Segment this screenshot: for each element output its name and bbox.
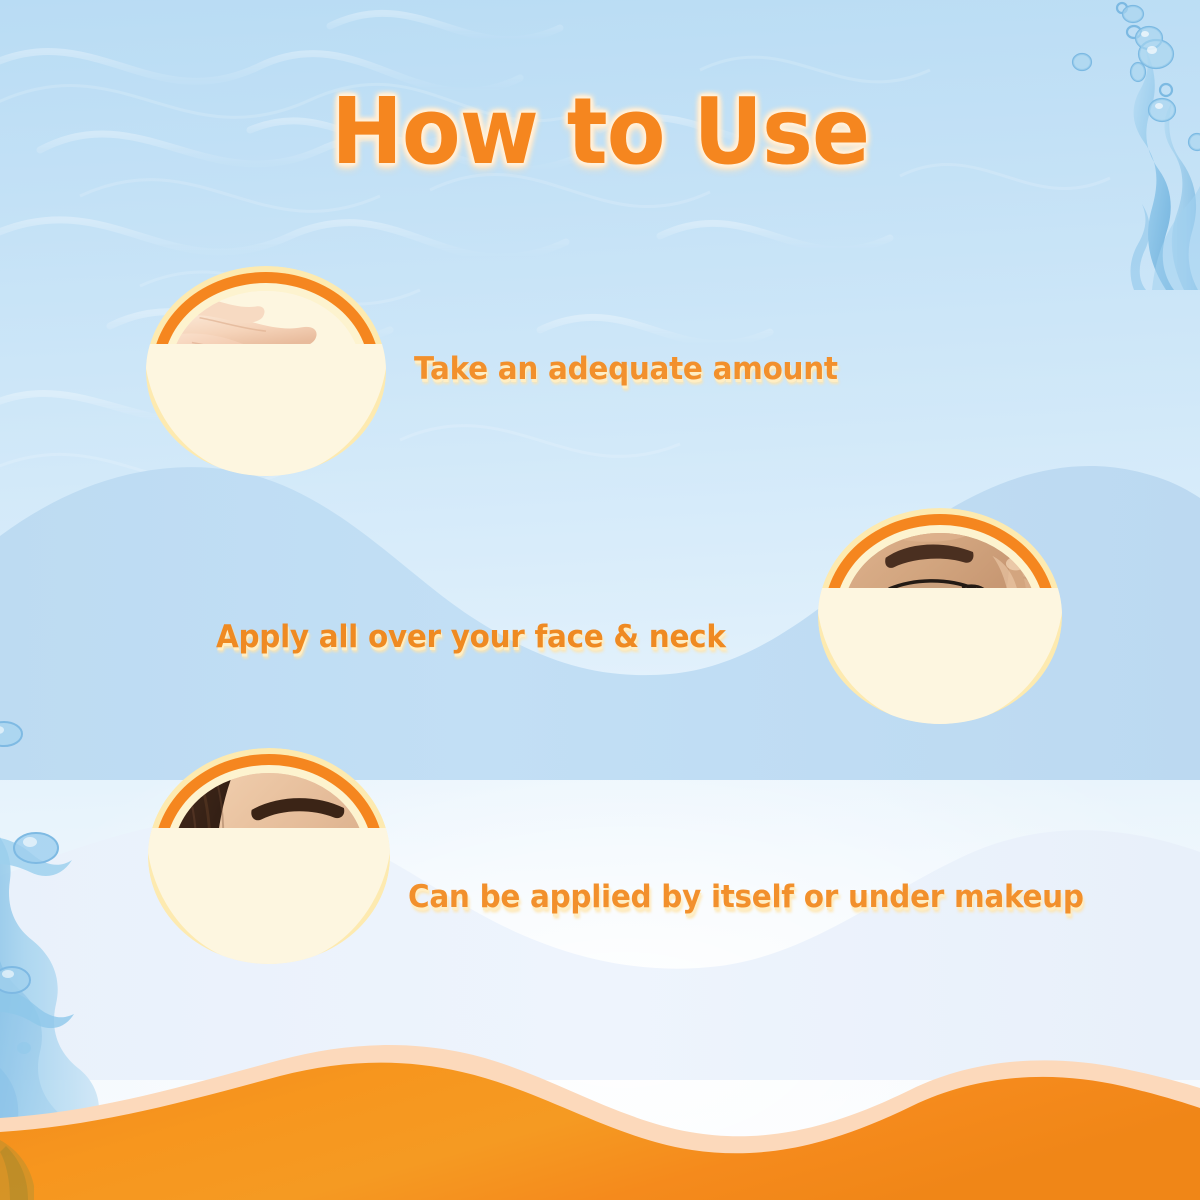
how-to-use-poster: How to Use [0, 0, 1200, 1200]
step-3 [148, 748, 390, 964]
step-3-image-frame [148, 748, 390, 964]
step-1 [146, 266, 386, 476]
woman-smiling-touching-face-photo [173, 773, 365, 939]
step-2 [818, 508, 1062, 724]
water-splash-left-icon [0, 690, 145, 1190]
woman-applying-cream-to-face-photo [843, 533, 1037, 699]
step-2-caption: Apply all over your face & neck [216, 620, 726, 654]
step-1-caption: Take an adequate amount [414, 352, 838, 386]
page-title-wrapper: How to Use [0, 86, 1200, 178]
wave-footer-orange [0, 1020, 1200, 1200]
hands-with-cream-photo [171, 291, 361, 451]
page-title: How to Use [331, 86, 869, 178]
step-1-image-frame [146, 266, 386, 476]
step-2-image-frame [818, 508, 1062, 724]
step-3-caption: Can be applied by itself or under makeup [408, 880, 1084, 914]
